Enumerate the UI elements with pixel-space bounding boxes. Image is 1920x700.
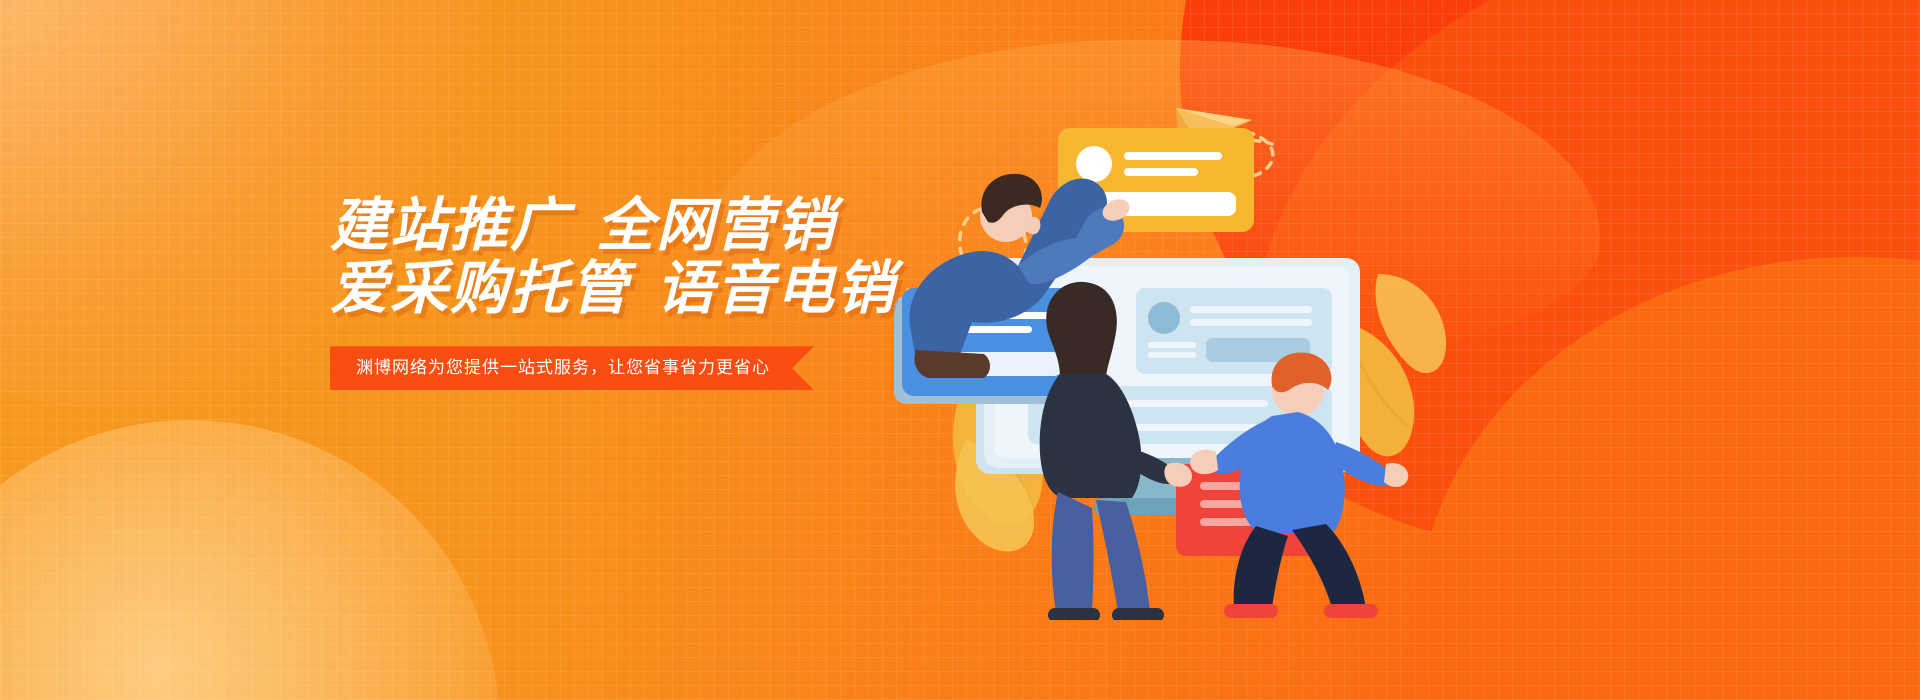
headline-line1-part2: 全网营销 (596, 193, 836, 258)
tagline-ribbon: 渊博网络为您提供一站式服务，让您省事省力更省心 (330, 346, 814, 390)
headline-line-2: 爱采购托管语音电销 (330, 258, 1090, 321)
banner-copy: 建站推广全网营销 爱采购托管语音电销 渊博网络为您提供一站式服务，让您省事省力更… (330, 195, 1090, 390)
promo-banner: 建站推广全网营销 爱采购托管语音电销 渊博网络为您提供一站式服务，让您省事省力更… (0, 0, 1920, 700)
headline-line1-part1: 建站推广 (330, 193, 570, 258)
headline-line-1: 建站推广全网营销 (330, 195, 1090, 258)
headline-line2-part1: 爱采购托管 (330, 256, 630, 321)
headline-line2-part2: 语音电销 (656, 256, 896, 321)
